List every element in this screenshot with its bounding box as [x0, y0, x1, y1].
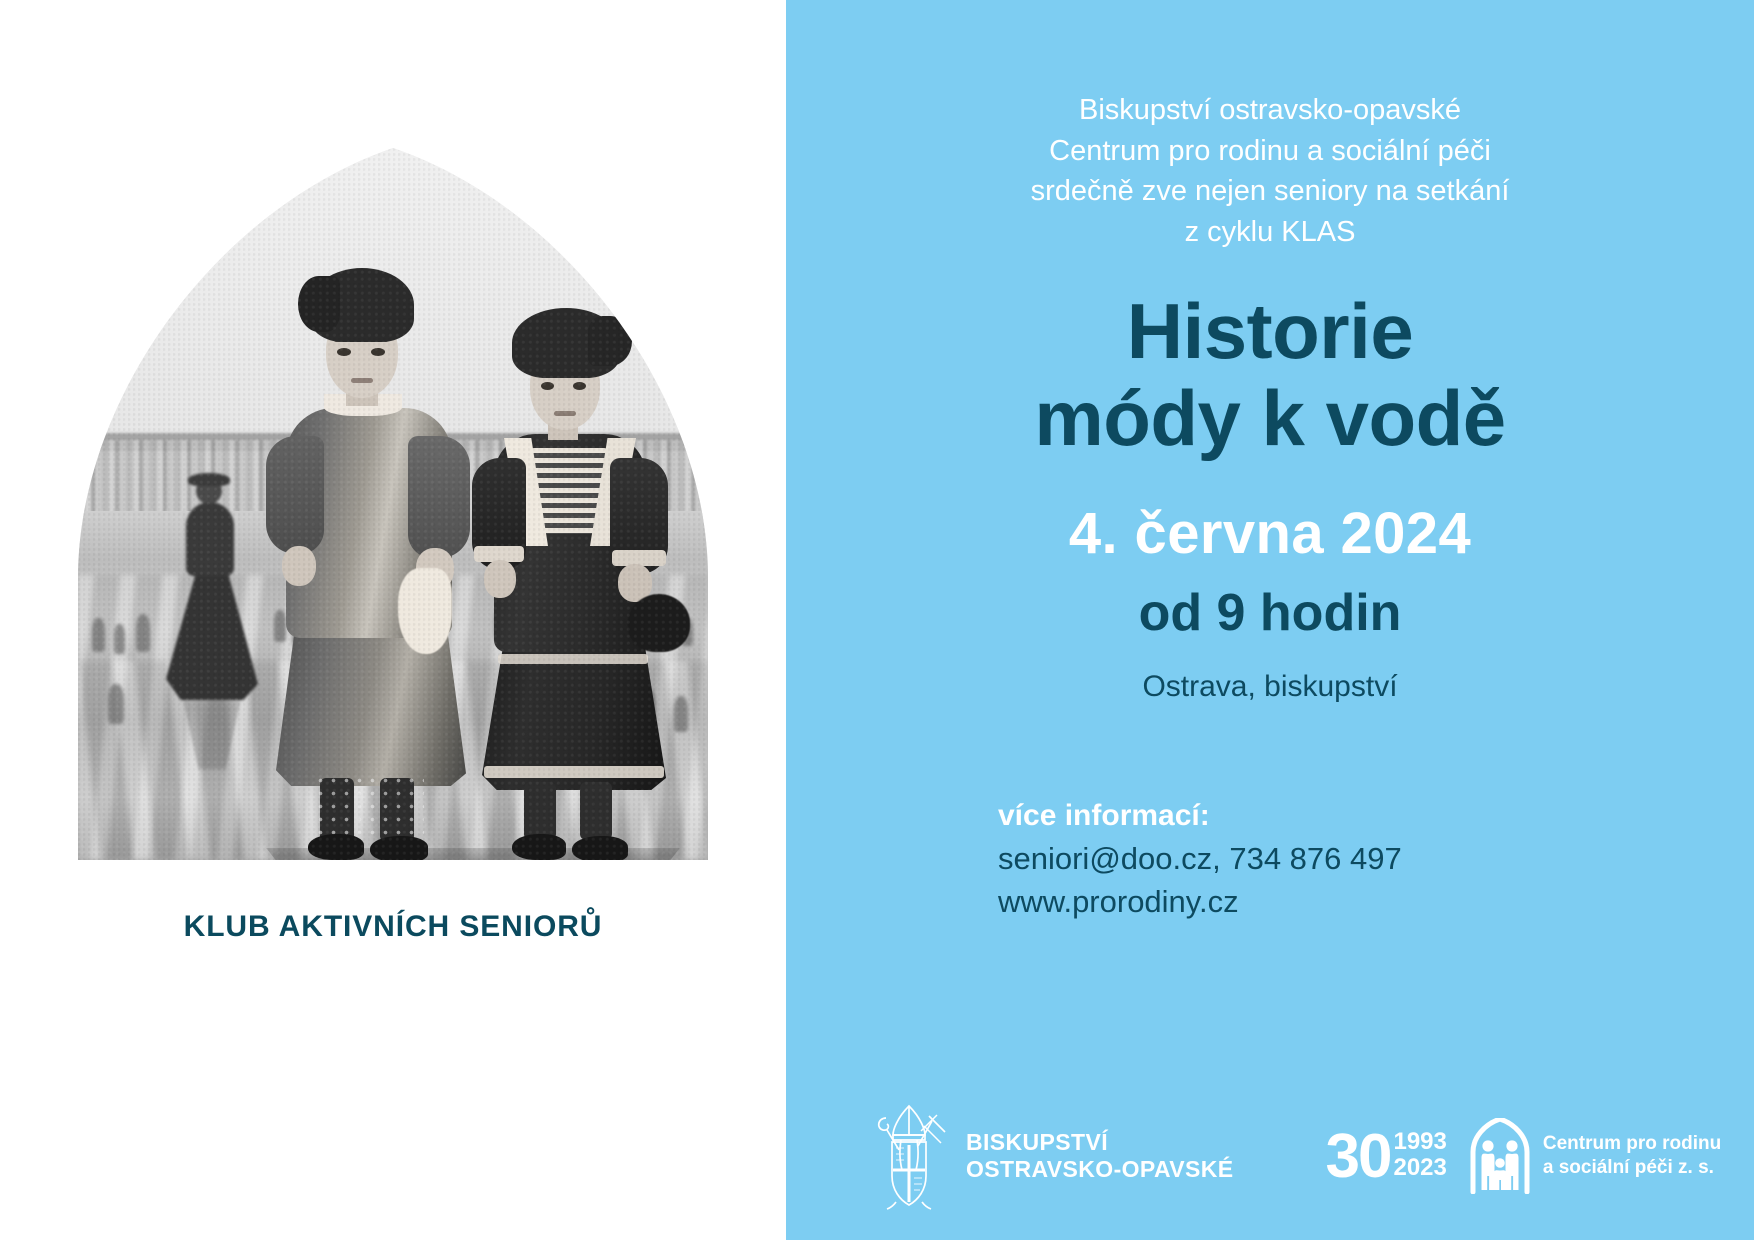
poster-canvas: KLUB AKTIVNÍCH SENIORŮ Biskupství ostrav…	[0, 0, 1754, 1240]
invitation-line-2: Centrum pro rodinu a sociální péči	[786, 131, 1754, 172]
diocese-logo-line-2: OSTRAVSKO-OPAVSKÉ	[966, 1156, 1234, 1183]
contact-label: více informací:	[998, 795, 1402, 837]
family-center-line-2: a sociální péči z. s.	[1543, 1156, 1721, 1180]
anniversary-year-from: 1993	[1393, 1129, 1446, 1154]
event-date: 4. června 2024	[786, 500, 1754, 567]
anniversary-logo: 30 1993 2023	[1326, 1129, 1447, 1183]
vintage-beach-photograph	[78, 148, 708, 860]
right-info-panel: Biskupství ostravsko-opavské Centrum pro…	[786, 0, 1754, 1240]
anniversary-year-to: 2023	[1393, 1155, 1446, 1180]
event-place: Ostrava, biskupství	[786, 670, 1754, 704]
photo-foreground-figure-right	[468, 308, 688, 860]
photo-background-figure	[166, 478, 258, 708]
left-photo-panel: KLUB AKTIVNÍCH SENIORŮ	[0, 0, 786, 1240]
diocese-logo-line-1: BISKUPSTVÍ	[966, 1129, 1234, 1156]
diocese-coat-of-arms-icon	[866, 1102, 952, 1210]
anniversary-number: 30	[1326, 1132, 1391, 1183]
family-center-logo: Centrum pro rodinu a sociální péči z. s.	[1469, 1118, 1721, 1194]
invitation-block: Biskupství ostravsko-opavské Centrum pro…	[786, 90, 1754, 252]
contact-website[interactable]: www.prorodiny.cz	[998, 880, 1402, 923]
invitation-line-4: z cyklu KLAS	[786, 212, 1754, 253]
contact-email-phone[interactable]: seniori@doo.cz, 734 876 497	[998, 837, 1402, 880]
event-title-line-2: módy k vodě	[786, 375, 1754, 462]
family-center-logo-text: Centrum pro rodinu a sociální péči z. s.	[1543, 1132, 1721, 1181]
diocese-logo-text: BISKUPSTVÍ OSTRAVSKO-OPAVSKÉ	[966, 1129, 1234, 1183]
arch-photo-frame	[78, 148, 708, 860]
event-title: Historie módy k vodě	[786, 288, 1754, 463]
event-time: od 9 hodin	[786, 583, 1754, 643]
family-arch-icon	[1469, 1118, 1531, 1194]
footer-logo-row: BISKUPSTVÍ OSTRAVSKO-OPAVSKÉ 30 1993 202…	[786, 1102, 1754, 1210]
club-caption: KLUB AKTIVNÍCH SENIORŮ	[0, 910, 786, 944]
diocese-logo: BISKUPSTVÍ OSTRAVSKO-OPAVSKÉ	[866, 1102, 1234, 1210]
photo-foreground-figure-left	[258, 268, 488, 860]
invitation-line-1: Biskupství ostravsko-opavské	[786, 90, 1754, 131]
anniversary-years: 1993 2023	[1393, 1129, 1446, 1183]
family-center-line-1: Centrum pro rodinu	[1543, 1132, 1721, 1156]
contact-block: více informací: seniori@doo.cz, 734 876 …	[998, 795, 1402, 924]
invitation-line-3: srdečně zve nejen seniory na setkání	[786, 171, 1754, 212]
event-title-line-1: Historie	[786, 288, 1754, 375]
